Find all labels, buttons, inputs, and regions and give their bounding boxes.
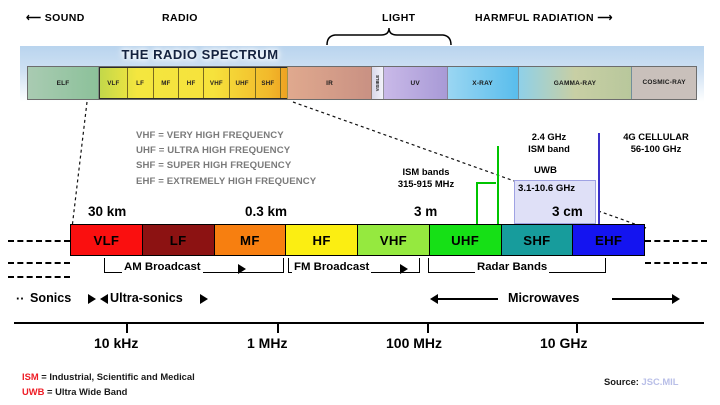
microwaves-left-arrow-icon <box>430 294 438 304</box>
em-segment-xray-label: X-RAY <box>472 80 493 87</box>
axis-tick-10khz <box>126 324 128 333</box>
em-segment-ir-label: IR <box>326 80 333 87</box>
spectrum-diagram: ⟵ SOUND RADIO LIGHT HARMFUL RADIATION ⟶ … <box>0 0 720 405</box>
em-spectrum-bar: ELF VLF LF MF HF VHF UHF SHF EHF IR <box>27 66 697 100</box>
axis-tick-10ghz <box>576 324 578 333</box>
ism-bands-marker-line <box>476 182 478 224</box>
abbr-uhf: UHF = ULTRA HIGH FREQUENCY <box>136 143 316 158</box>
light-bracket-icon <box>325 26 455 46</box>
annotation-4g-cellular-line2: 56-100 GHz <box>604 143 708 155</box>
annotation-ism-bands: ISM bands 315-915 MHz <box>378 166 474 189</box>
abbr-shf: SHF = SUPER HIGH FREQUENCY <box>136 158 316 173</box>
service-dash-left <box>8 262 70 264</box>
wavelength-label-3m: 3 m <box>414 204 437 219</box>
annotation-4g-cellular-line1: 4G CELLULAR <box>604 131 708 143</box>
ultrasonics-left-arrow-icon <box>100 294 108 304</box>
radio-band-mf[interactable]: MF <box>215 225 287 255</box>
footer-source: Source: JSC.MIL <box>604 376 679 387</box>
axis-label-100mhz: 100 MHz <box>386 335 442 351</box>
bracket-am-broadcast-label: AM Broadcast <box>122 261 203 273</box>
wavelength-label-0.3km: 0.3 km <box>245 204 287 219</box>
main-bar-dash-right <box>645 240 707 242</box>
ism-bands-bracket-icon <box>476 182 496 226</box>
radio-band-ehf[interactable]: EHF <box>573 225 644 255</box>
em-subband-vlf: VLF <box>100 68 128 98</box>
left-arrow-icon: ⟵ <box>26 12 41 24</box>
radio-band-lf[interactable]: LF <box>143 225 215 255</box>
wavelength-label-30km: 30 km <box>88 204 126 219</box>
radio-band-vlf[interactable]: VLF <box>71 225 143 255</box>
annotation-ism-24ghz-line1: 2.4 GHz <box>509 131 589 143</box>
footer-ism-definition: = Industrial, Scientific and Medical <box>41 371 194 382</box>
annotation-ism-bands-line2: 315-915 MHz <box>378 178 474 190</box>
category-radio-label: RADIO <box>162 12 198 24</box>
em-segment-gamma-label: GAMMA-RAY <box>554 80 596 87</box>
radio-band-bar: VLF LF MF HF VHF UHF SHF EHF <box>70 224 645 256</box>
category-sound-label: SOUND <box>45 12 85 24</box>
microwaves-right-rule <box>612 298 674 300</box>
footer-uwb-key: UWB <box>22 386 44 397</box>
footer-uwb: UWB = Ultra Wide Band <box>22 386 127 397</box>
service-dash-left2 <box>8 276 70 278</box>
radio-band-vhf[interactable]: VHF <box>358 225 430 255</box>
em-segment-uv-label: UV <box>411 80 420 87</box>
axis-label-1mhz: 1 MHz <box>247 335 287 351</box>
em-subband-mf: MF <box>154 68 180 98</box>
em-segment-ir: IR <box>288 67 372 99</box>
em-segment-radio-group: VLF LF MF HF VHF UHF SHF EHF <box>99 67 288 99</box>
em-segment-elf: ELF <box>28 67 99 99</box>
em-segment-gamma: HARD X-RAY / SOFT GAMMA-RAY HARD GAMMA-R… <box>519 67 633 99</box>
annotation-ism-24ghz: 2.4 GHz ISM band <box>509 131 589 154</box>
em-segment-uv: UV <box>384 67 448 99</box>
microwaves-left-rule <box>438 298 498 300</box>
propagation-ultrasonics-label: Ultra-sonics <box>110 291 183 305</box>
em-subband-lf: LF <box>128 68 154 98</box>
abbreviation-legend: VHF = VERY HIGH FREQUENCY UHF = ULTRA HI… <box>136 128 316 189</box>
em-subband-vhf: VHF <box>204 68 230 98</box>
am-broadcast-arrow-icon <box>238 264 246 274</box>
ism-24ghz-marker-line <box>497 146 499 224</box>
bracket-fm-broadcast-label: FM Broadcast <box>292 261 371 273</box>
frequency-axis <box>14 322 704 324</box>
category-harmful-radiation-label: HARMFUL RADIATION <box>475 12 594 24</box>
em-spectrum-title: THE RADIO SPECTRUM <box>20 47 380 62</box>
em-subband-hf: HF <box>179 68 204 98</box>
annotation-4g-cellular: 4G CELLULAR 56-100 GHz <box>604 131 708 154</box>
fm-broadcast-arrow-icon <box>400 264 408 274</box>
abbr-vhf: VHF = VERY HIGH FREQUENCY <box>136 128 316 143</box>
4g-cellular-marker-line <box>598 133 600 224</box>
axis-tick-100mhz <box>427 324 429 333</box>
annotation-ism-bands-line1: ISM bands <box>378 166 474 178</box>
em-subband-ehf: EHF <box>281 68 288 98</box>
abbr-ehf: EHF = EXTREMELY HIGH FREQUENCY <box>136 174 316 189</box>
footer-ism: ISM = Industrial, Scientific and Medical <box>22 371 195 382</box>
propagation-sonics: ·· <box>16 292 24 306</box>
wavelength-label-3cm: 3 cm <box>552 204 583 219</box>
microwaves-right-arrow-icon <box>672 294 680 304</box>
radio-band-shf[interactable]: SHF <box>502 225 574 255</box>
axis-label-10ghz: 10 GHz <box>540 335 587 351</box>
axis-label-10khz: 10 kHz <box>94 335 138 351</box>
em-segment-xray: SOFT X-RAY X-RAY <box>448 67 519 99</box>
footer-uwb-definition: = Ultra Wide Band <box>47 386 127 397</box>
em-spectrum-panel: THE RADIO SPECTRUM ELF VLF LF MF HF VHF … <box>20 46 704 102</box>
annotation-ism-24ghz-line2: ISM band <box>509 143 589 155</box>
annotation-uwb-label: UWB <box>534 165 557 176</box>
em-subband-shf: SHF <box>256 68 282 98</box>
em-subband-uhf: UHF <box>230 68 256 98</box>
em-segment-cosmic: COSMIC-RAY <box>632 67 696 99</box>
ultrasonics-right-arrow-icon <box>200 294 208 304</box>
footer-source-name[interactable]: JSC.MIL <box>642 376 679 387</box>
category-harmful-radiation: HARMFUL RADIATION ⟶ <box>475 12 613 24</box>
footer-ism-key: ISM <box>22 371 39 382</box>
main-bar-dash-left <box>8 240 70 242</box>
em-segment-visible: VISIBLE <box>372 67 384 99</box>
em-segment-elf-label: ELF <box>57 80 70 87</box>
annotation-uwb-range: 3.1-10.6 GHz <box>518 183 575 194</box>
em-segment-visible-label: VISIBLE <box>375 75 380 91</box>
category-sound: ⟵ SOUND <box>26 12 85 24</box>
bracket-radar-bands-label: Radar Bands <box>475 261 549 273</box>
category-light-label: LIGHT <box>382 12 416 24</box>
propagation-sonics-label: Sonics <box>30 291 71 305</box>
footer-source-label: Source: <box>604 376 639 387</box>
axis-tick-1mhz <box>277 324 279 333</box>
service-dash-right <box>645 262 707 264</box>
right-arrow-icon: ⟶ <box>597 12 612 24</box>
radio-band-uhf[interactable]: UHF <box>430 225 502 255</box>
em-segment-cosmic-label: COSMIC-RAY <box>643 79 686 87</box>
propagation-microwaves-label: Microwaves <box>508 291 579 305</box>
sonics-dots-icon: ·· <box>16 292 24 306</box>
radio-band-hf[interactable]: HF <box>286 225 358 255</box>
sonics-arrow-icon <box>88 294 96 304</box>
